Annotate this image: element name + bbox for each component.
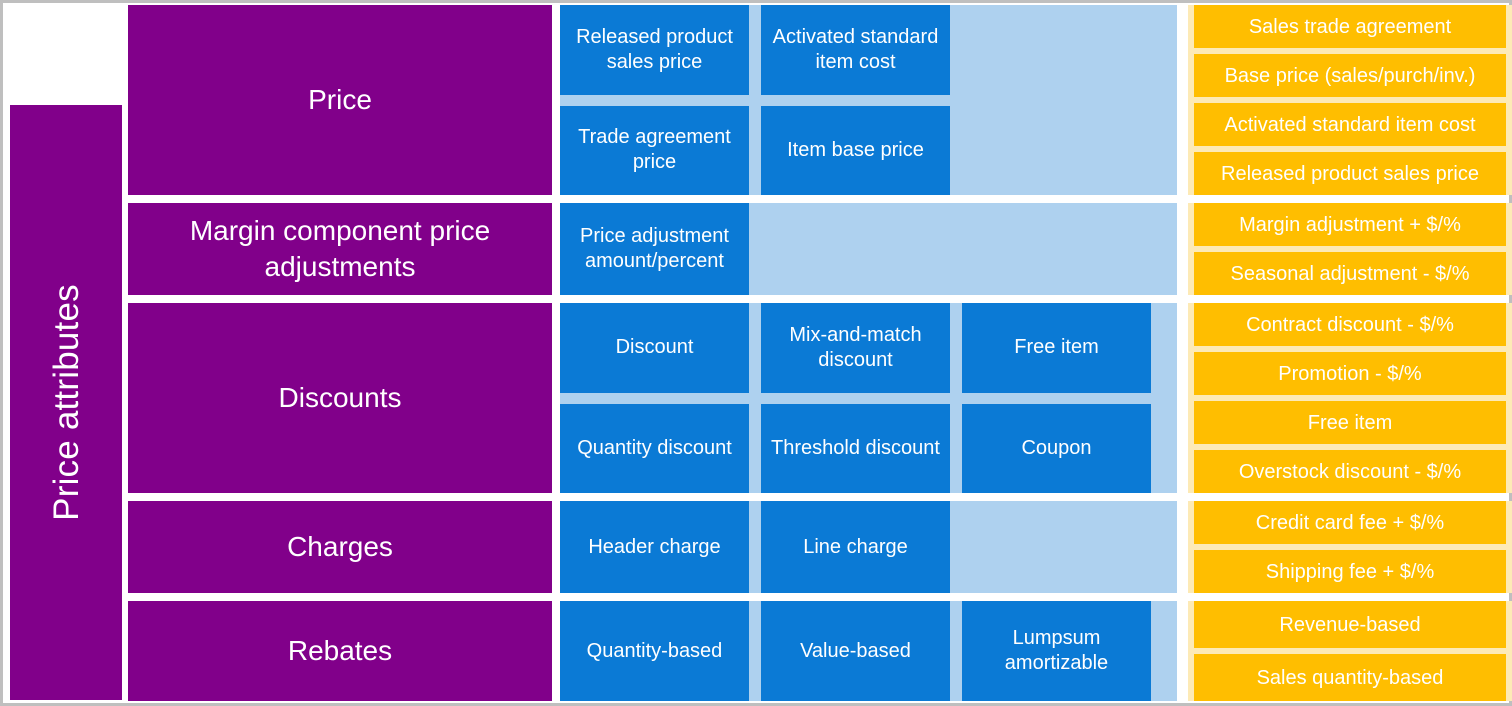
tile-tray-rebates: Quantity-based Value-based Lumpsum amort…	[560, 601, 1177, 701]
category-label-price: Price	[128, 5, 552, 195]
tile-placeholder	[962, 501, 1151, 593]
tile-trade-agreement-price[interactable]: Trade agreement price	[560, 106, 749, 196]
pill-seasonal-adjustment[interactable]: Seasonal adjustment - $/%	[1194, 252, 1506, 295]
price-attributes-banner: Price attributes	[10, 105, 122, 700]
category-label-rebates: Rebates	[128, 601, 552, 701]
pill-overstock-discount[interactable]: Overstock discount - $/%	[1194, 450, 1506, 493]
tile-tray-margin-component-price-adjustments: Price adjustment amount/percent	[560, 203, 1177, 295]
tile-quantity-based[interactable]: Quantity-based	[560, 601, 749, 701]
pill-credit-card-fee[interactable]: Credit card fee + $/%	[1194, 501, 1506, 544]
tile-placeholder	[962, 106, 1151, 196]
tile-line-charge[interactable]: Line charge	[761, 501, 950, 593]
pill-tray-rebates: Revenue-based Sales quantity-based	[1188, 601, 1512, 701]
price-attributes-banner-label: Price attributes	[49, 284, 84, 521]
tile-discount[interactable]: Discount	[560, 303, 749, 393]
tile-item-base-price[interactable]: Item base price	[761, 106, 950, 196]
category-label-charges: Charges	[128, 501, 552, 593]
pill-margin-adjustment[interactable]: Margin adjustment + $/%	[1194, 203, 1506, 246]
attribute-row-price: Price Released product sales price Activ…	[128, 5, 1512, 195]
tile-price-adjustment-amount-percent[interactable]: Price adjustment amount/percent	[560, 203, 749, 295]
pill-tray-charges: Credit card fee + $/% Shipping fee + $/%	[1188, 501, 1512, 593]
pill-base-price[interactable]: Base price (sales/purch/inv.)	[1194, 54, 1506, 97]
tile-line: Quantity discount Threshold discount Cou…	[560, 404, 1177, 494]
tile-coupon[interactable]: Coupon	[962, 404, 1151, 494]
pill-tray-price: Sales trade agreement Base price (sales/…	[1188, 5, 1512, 195]
tile-lumpsum-amortizable[interactable]: Lumpsum amortizable	[962, 601, 1151, 701]
tile-mix-and-match-discount[interactable]: Mix-and-match discount	[761, 303, 950, 393]
tile-activated-standard-item-cost[interactable]: Activated standard item cost	[761, 5, 950, 95]
attribute-row-charges: Charges Header charge Line charge Credit…	[128, 501, 1512, 593]
category-label-discounts: Discounts	[128, 303, 552, 493]
tile-line: Header charge Line charge	[560, 501, 1177, 593]
tile-placeholder	[962, 203, 1151, 295]
pill-released-product-sales-price[interactable]: Released product sales price	[1194, 152, 1506, 195]
pill-activated-standard-item-cost[interactable]: Activated standard item cost	[1194, 103, 1506, 146]
pill-free-item[interactable]: Free item	[1194, 401, 1506, 444]
pill-tray-discounts: Contract discount - $/% Promotion - $/% …	[1188, 303, 1512, 493]
pill-sales-quantity-based[interactable]: Sales quantity-based	[1194, 654, 1506, 701]
attribute-row-margin-component-price-adjustments: Margin component price adjustments Price…	[128, 203, 1512, 295]
pill-tray-margin-component-price-adjustments: Margin adjustment + $/% Seasonal adjustm…	[1188, 203, 1512, 295]
pill-contract-discount[interactable]: Contract discount - $/%	[1194, 303, 1506, 346]
tile-placeholder	[962, 5, 1151, 95]
pill-sales-trade-agreement[interactable]: Sales trade agreement	[1194, 5, 1506, 48]
attribute-row-discounts: Discounts Discount Mix-and-match discoun…	[128, 303, 1512, 493]
price-attributes-diagram: Price attributes Price Released product …	[0, 0, 1512, 706]
tile-tray-charges: Header charge Line charge	[560, 501, 1177, 593]
tile-header-charge[interactable]: Header charge	[560, 501, 749, 593]
tile-line: Trade agreement price Item base price	[560, 106, 1177, 196]
tile-tray-discounts: Discount Mix-and-match discount Free ite…	[560, 303, 1177, 493]
category-label-margin-component-price-adjustments: Margin component price adjustments	[128, 203, 552, 295]
tile-tray-price: Released product sales price Activated s…	[560, 5, 1177, 195]
tile-released-product-sales-price[interactable]: Released product sales price	[560, 5, 749, 95]
tile-line: Quantity-based Value-based Lumpsum amort…	[560, 601, 1177, 701]
tile-value-based[interactable]: Value-based	[761, 601, 950, 701]
pill-revenue-based[interactable]: Revenue-based	[1194, 601, 1506, 648]
pill-shipping-fee[interactable]: Shipping fee + $/%	[1194, 550, 1506, 593]
pill-promotion[interactable]: Promotion - $/%	[1194, 352, 1506, 395]
attribute-row-rebates: Rebates Quantity-based Value-based Lumps…	[128, 601, 1512, 701]
tile-threshold-discount[interactable]: Threshold discount	[761, 404, 950, 494]
tile-free-item[interactable]: Free item	[962, 303, 1151, 393]
tile-line: Released product sales price Activated s…	[560, 5, 1177, 95]
tile-quantity-discount[interactable]: Quantity discount	[560, 404, 749, 494]
tile-line: Discount Mix-and-match discount Free ite…	[560, 303, 1177, 393]
attribute-rows: Price Released product sales price Activ…	[128, 0, 1512, 706]
tile-line: Price adjustment amount/percent	[560, 203, 1177, 295]
tile-placeholder	[761, 203, 950, 295]
